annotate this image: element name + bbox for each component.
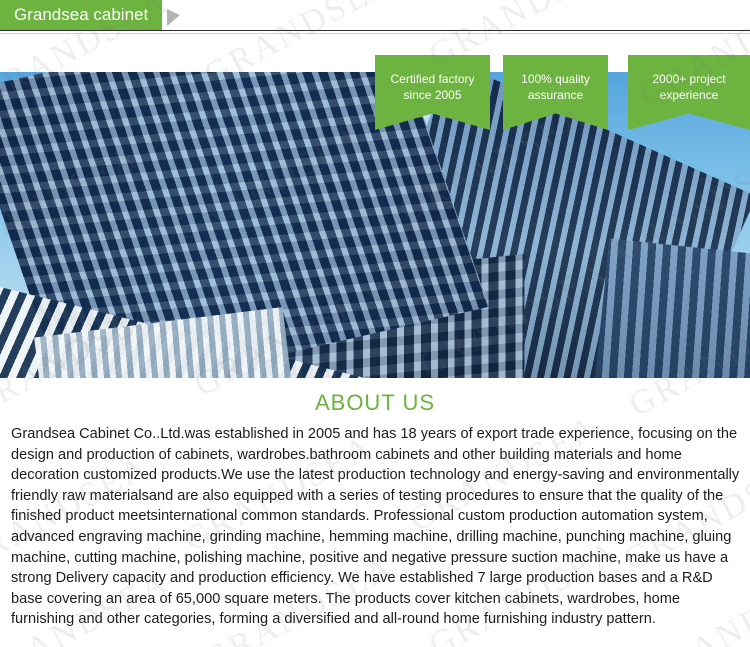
header-brand-tab[interactable]: Grandsea cabinet xyxy=(0,0,162,30)
feature-tag-line2: assurance xyxy=(528,88,583,102)
feature-tag-line1: 2000+ project xyxy=(652,72,725,86)
feature-tag: 2000+ project experience xyxy=(628,55,750,130)
about-title: ABOUT US xyxy=(0,378,750,418)
about-body-text: Grandsea Cabinet Co..Ltd.was established… xyxy=(11,424,740,630)
feature-tag-line2: experience xyxy=(660,88,719,102)
building-far-right xyxy=(591,239,750,378)
header-divider-light xyxy=(0,33,750,34)
feature-tag-line1: Certified factory xyxy=(390,72,474,86)
feature-tag: 100% quality assurance xyxy=(503,55,608,130)
about-section: ABOUT US Grandsea Cabinet Co..Ltd.was es… xyxy=(0,378,750,647)
header-divider-dark xyxy=(0,30,750,31)
feature-tag-group: Certified factory since 2005 100% qualit… xyxy=(0,55,750,135)
feature-tag: Certified factory since 2005 xyxy=(375,55,490,130)
feature-tag-line1: 100% quality xyxy=(521,72,590,86)
feature-tag-line2: since 2005 xyxy=(403,88,461,102)
page-header: Grandsea cabinet xyxy=(0,0,750,30)
triangle-right-icon xyxy=(167,9,180,26)
